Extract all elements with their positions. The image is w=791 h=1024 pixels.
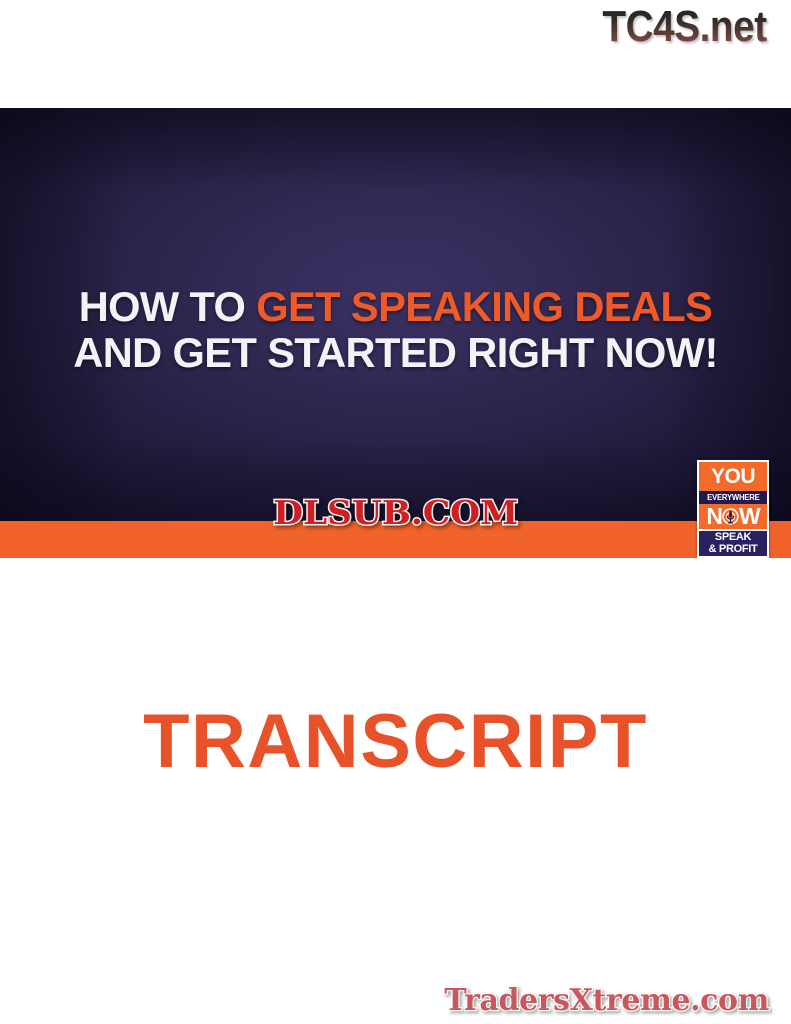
top-watermark-tc4s: TC4S.net (603, 2, 767, 52)
logo-now-band: N W (699, 504, 767, 528)
slide-orange-band (0, 521, 791, 558)
you-everywhere-now-logo: YOU EVERYWHERE N (697, 460, 769, 558)
logo-inner: YOU EVERYWHERE N (699, 462, 767, 556)
logo-speak-profit-band: SPEAK & PROFIT (699, 529, 767, 556)
logo-everywhere-text: EVERYWHERE (707, 494, 759, 502)
slide-title-line-2: AND GET STARTED RIGHT NOW! (4, 332, 787, 375)
slide-title: HOW TO GET SPEAKING DEALS AND GET STARTE… (0, 286, 791, 375)
logo-now-letter-n: N (706, 505, 722, 528)
slide-title-line-1-accent: GET SPEAKING DEALS (256, 283, 712, 330)
logo-profit-text: & PROFIT (709, 543, 758, 555)
slide-title-line-1: HOW TO GET SPEAKING DEALS (4, 286, 787, 329)
title-slide-image: HOW TO GET SPEAKING DEALS AND GET STARTE… (0, 108, 791, 558)
logo-you-band: YOU (699, 462, 767, 491)
podcast-microphone-icon (722, 507, 739, 526)
logo-now-text: N W (706, 505, 759, 528)
logo-speak-text: SPEAK (715, 531, 751, 543)
logo-now-letter-w: W (739, 505, 760, 528)
logo-you-text: YOU (711, 466, 755, 487)
transcript-heading-text: TRANSCRIPT (143, 699, 648, 784)
bottom-watermark-tradersxtreme: TradersXtreme.com (444, 983, 769, 1018)
transcript-heading: TRANSCRIPT (0, 704, 791, 780)
slide-title-line-1-plain: HOW TO (79, 283, 257, 330)
